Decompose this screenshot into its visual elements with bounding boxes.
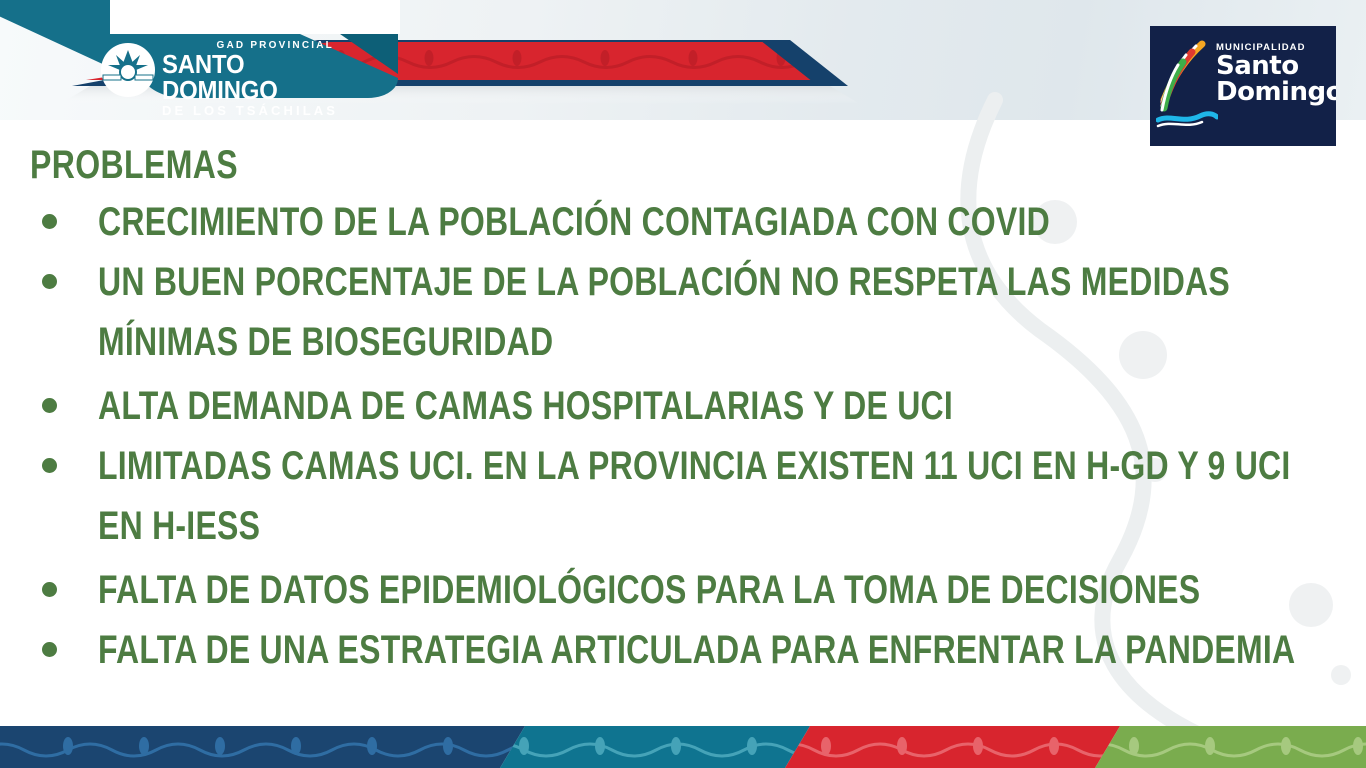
- list-item: CRECIMIENTO DE LA POBLACIÓN CONTAGIADA C…: [30, 192, 1350, 252]
- colored-swoosh-wave-icon: [1156, 38, 1218, 134]
- municipal-logo-line2: Santo: [1216, 54, 1336, 79]
- bottom-decorative-strip: [0, 720, 1366, 768]
- municipal-logo: MUNICIPALIDAD Santo Domingo: [1150, 26, 1336, 146]
- provincial-logo-line2: SANTO DOMINGO: [162, 51, 344, 103]
- list-item: FALTA DE UNA ESTRATEGIA ARTICULADA PARA …: [30, 620, 1350, 680]
- slide: GAD PROVINCIAL SANTO DOMINGO DE LOS TSÁC…: [0, 0, 1366, 768]
- page-title: PROBLEMAS: [30, 142, 1086, 188]
- strip-segment-navy: [0, 720, 560, 768]
- list-item-text: FALTA DE DATOS EPIDEMIOLÓGICOS PARA LA T…: [98, 560, 1350, 620]
- list-item-text: CRECIMIENTO DE LA POBLACIÓN CONTAGIADA C…: [98, 192, 1350, 252]
- problems-list: CRECIMIENTO DE LA POBLACIÓN CONTAGIADA C…: [30, 192, 1350, 680]
- list-item: FALTA DE DATOS EPIDEMIOLÓGICOS PARA LA T…: [30, 560, 1350, 620]
- list-item-text: FALTA DE UNA ESTRATEGIA ARTICULADA PARA …: [98, 620, 1350, 680]
- list-item: LIMITADAS CAMAS UCI. EN LA PROVINCIA EXI…: [30, 436, 1350, 560]
- bullet-dot-icon: [42, 398, 57, 413]
- list-item-text: UN BUEN PORCENTAJE DE LA POBLACIÓN NO RE…: [98, 252, 1350, 372]
- list-item: ALTA DEMANDA DE CAMAS HOSPITALARIAS Y DE…: [30, 376, 1350, 436]
- slide-content: PROBLEMAS CRECIMIENTO DE LA POBLACIÓN CO…: [30, 142, 1350, 680]
- bullet-dot-icon: [42, 642, 57, 657]
- bullet-dot-icon: [42, 458, 57, 473]
- municipal-logo-line3: Domingo: [1216, 79, 1336, 106]
- bullet-dot-icon: [42, 214, 57, 229]
- strip-segment-green: [1080, 720, 1366, 768]
- tsachila-circle-emblem-icon: [100, 42, 156, 98]
- list-item-text: ALTA DEMANDA DE CAMAS HOSPITALARIAS Y DE…: [98, 376, 1350, 436]
- provincial-logo-line3: DE LOS TSÁCHILAS: [162, 103, 360, 118]
- bullet-dot-icon: [42, 274, 57, 289]
- bullet-dot-icon: [42, 582, 57, 597]
- provincial-logo: GAD PROVINCIAL SANTO DOMINGO DE LOS TSÁC…: [100, 42, 360, 98]
- list-item: UN BUEN PORCENTAJE DE LA POBLACIÓN NO RE…: [30, 252, 1350, 376]
- list-item-text: LIMITADAS CAMAS UCI. EN LA PROVINCIA EXI…: [98, 436, 1350, 556]
- strip-segment-teal: [480, 720, 832, 768]
